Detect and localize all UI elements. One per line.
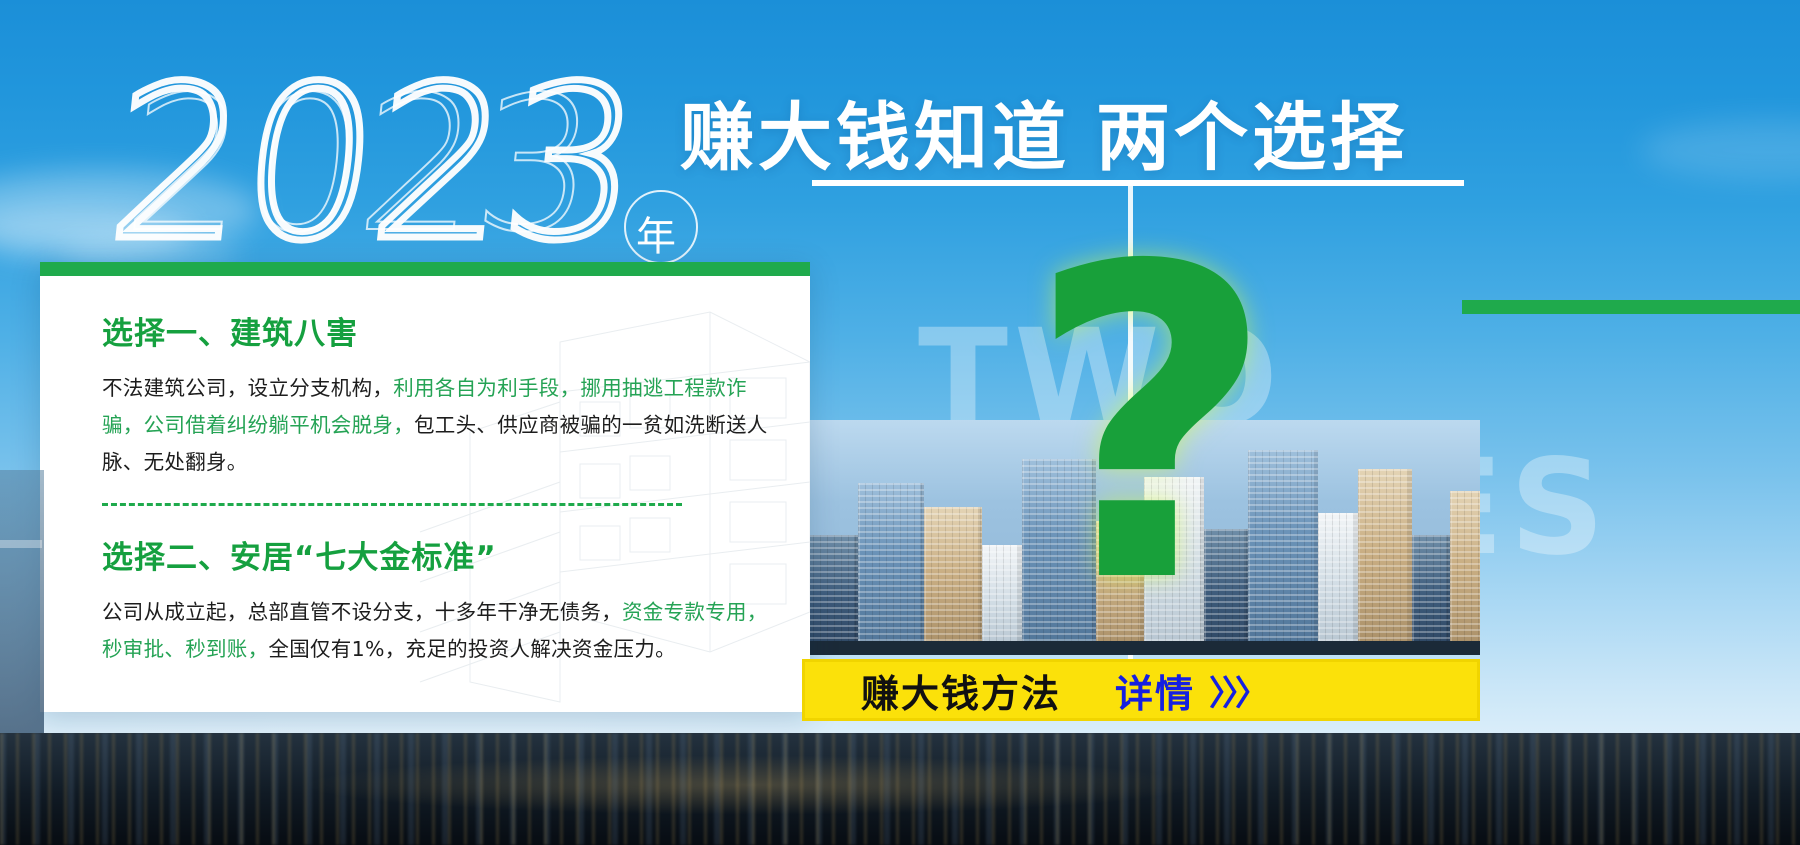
content-card: 选择一、建筑八害 不法建筑公司，设立分支机构，利用各自为利手段，挪用抽逃工程款诈… [40, 262, 810, 712]
section-1-body: 不法建筑公司，设立分支机构，利用各自为利手段，挪用抽逃工程款诈骗，公司借着纠纷躺… [102, 370, 782, 481]
left-bridge-line [0, 540, 42, 548]
headline-part-1: 赚大钱知道 [680, 95, 1070, 181]
headline-part-2: 两个选择 [1096, 95, 1408, 181]
bottom-glow [300, 755, 1200, 815]
bottom-night-strip [0, 733, 1800, 845]
left-edge-photo-strip [0, 470, 44, 740]
question-mark-icon: ? [1026, 212, 1275, 642]
card-content: 选择一、建筑八害 不法建筑公司，设立分支机构，利用各自为利手段，挪用抽逃工程款诈… [102, 308, 792, 668]
cta-button[interactable]: 赚大钱方法 详情 〉〉〉 [802, 659, 1480, 721]
section-1-title: 选择一、建筑八害 [102, 308, 792, 353]
poster-root: 2023 2023 年 赚大钱知道两个选择 TWO CHOICES ? [0, 0, 1800, 845]
section-divider [102, 503, 682, 506]
section-2-title: 选择二、安居“七大金标准” [102, 532, 792, 577]
cta-action-label: 详情 [1115, 663, 1195, 718]
section-2-body-black-2: 全国仅有1%，充足的投资人解决资金压力。 [268, 637, 676, 661]
card-green-top-bar [40, 262, 810, 276]
section-2-body-black-1: 公司从成立起，总部直管不设分支，十多年干净无债务， [102, 600, 622, 624]
green-accent-bar-right [1462, 300, 1800, 314]
section-2-body: 公司从成立起，总部直管不设分支，十多年干净无债务，资金专款专用，秒审批、秒到账，… [102, 594, 782, 668]
cta-label: 赚大钱方法 [861, 663, 1061, 718]
chevron-right-icon: 〉〉〉 [1209, 666, 1265, 715]
page-title: 赚大钱知道两个选择 [680, 78, 1408, 185]
section-1-body-black-1: 不法建筑公司，设立分支机构， [102, 376, 393, 400]
